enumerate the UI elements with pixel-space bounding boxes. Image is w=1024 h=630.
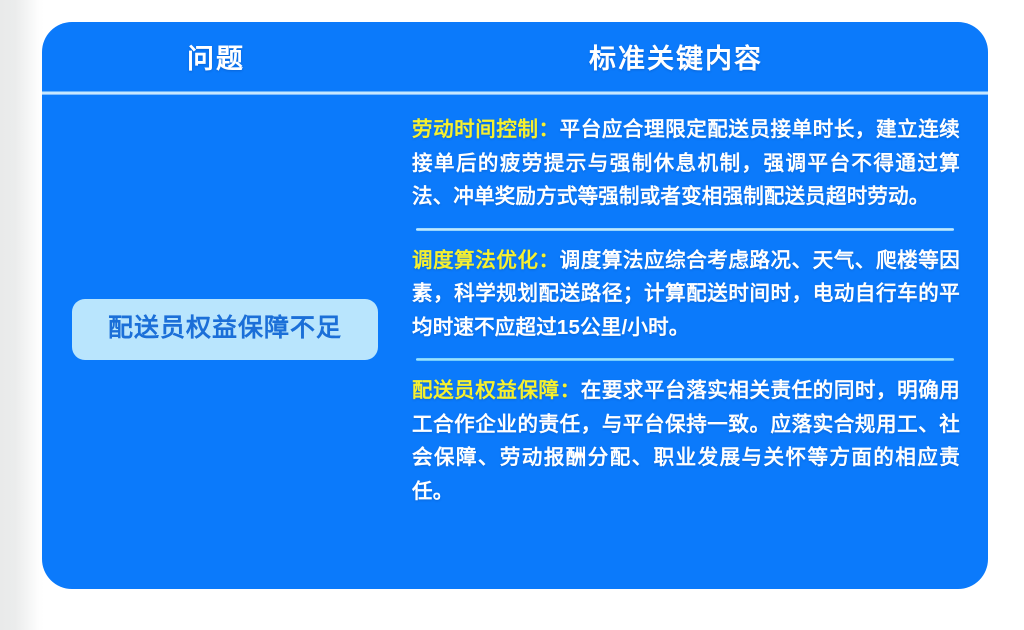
standards-summary-card: 问题 标准关键内容 配送员权益保障不足 劳动时间控制：平台应合理限定配送员接单时… <box>42 22 988 589</box>
clause-dispatch-algorithm: 调度算法优化：调度算法应综合考虑路况、天气、爬楼等因素，科学规划配送路径；计算配… <box>412 244 960 345</box>
card-body: 配送员权益保障不足 劳动时间控制：平台应合理限定配送员接单时长，建立连续接单后的… <box>42 91 988 585</box>
page-canvas: 问题 标准关键内容 配送员权益保障不足 劳动时间控制：平台应合理限定配送员接单时… <box>0 0 1024 630</box>
clause-term: 劳动时间控制： <box>412 118 560 141</box>
clause-term: 配送员权益保障： <box>412 379 581 402</box>
clause-courier-rights: 配送员权益保障：在要求平台落实相关责任的同时，明确用工合作企业的责任，与平台保持… <box>412 374 960 508</box>
header-content-column: 标准关键内容 <box>390 22 988 91</box>
clauses-column: 劳动时间控制：平台应合理限定配送员接单时长，建立连续接单后的疲劳提示与强制休息机… <box>390 91 988 508</box>
clause-term: 调度算法优化： <box>412 249 560 272</box>
header-problem-column: 问题 <box>42 22 390 91</box>
clause-divider-2 <box>416 358 954 361</box>
clause-divider-1 <box>416 228 954 231</box>
issue-column: 配送员权益保障不足 <box>42 91 390 585</box>
card-header: 问题 标准关键内容 <box>42 22 988 91</box>
left-edge-shading <box>0 0 44 630</box>
clause-labor-time: 劳动时间控制：平台应合理限定配送员接单时长，建立连续接单后的疲劳提示与强制休息机… <box>412 113 960 214</box>
issue-chip-courier-rights: 配送员权益保障不足 <box>72 299 378 360</box>
